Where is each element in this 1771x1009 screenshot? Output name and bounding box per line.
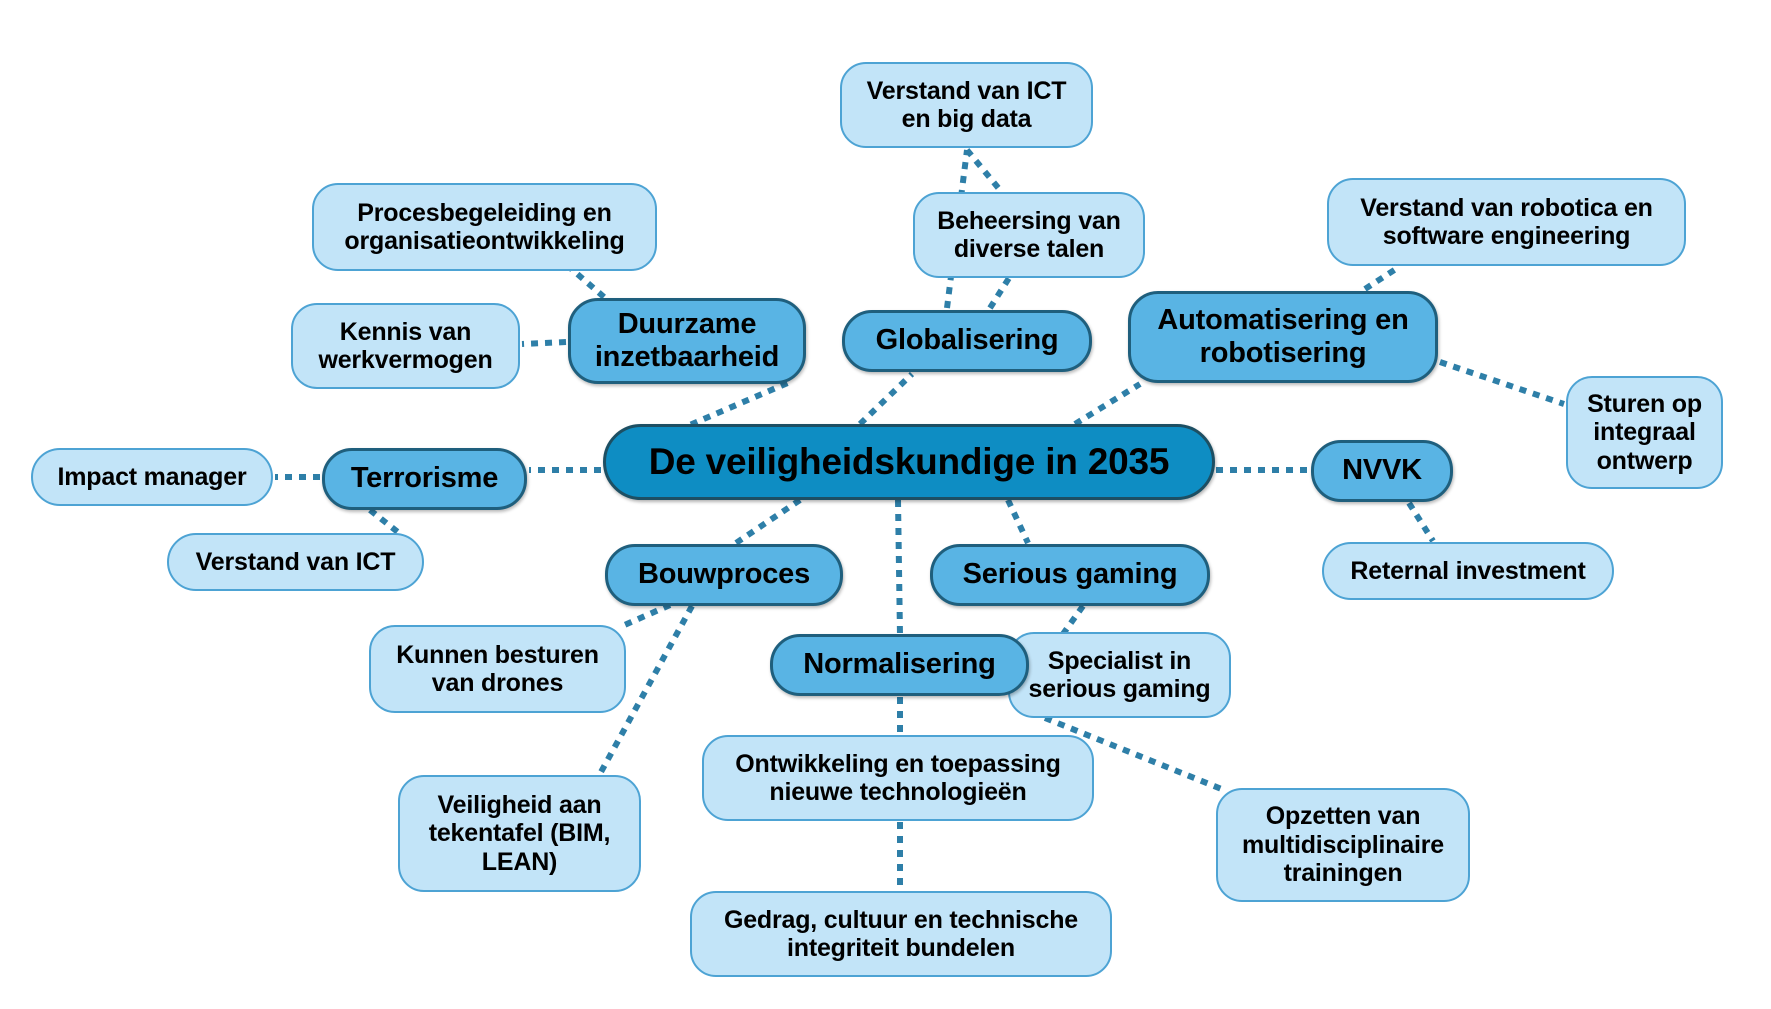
node-leaf-verstand-robotica[interactable]: Verstand van robotica en software engine… bbox=[1327, 178, 1686, 266]
edge-layer bbox=[0, 0, 1771, 1009]
node-leaf-reternal-investment[interactable]: Reternal investment bbox=[1322, 542, 1614, 600]
node-leaf-sturen-integraal-ontwerp[interactable]: Sturen op integraal ontwerp bbox=[1566, 376, 1723, 489]
edge-root-to-automatisering-robotisering bbox=[1075, 384, 1140, 424]
edge-root-to-normalisering bbox=[898, 500, 900, 636]
node-leaf-gedrag-cultuur[interactable]: Gedrag, cultuur en technische integritei… bbox=[690, 891, 1112, 977]
node-leaf-verstand-ict[interactable]: Verstand van ICT bbox=[167, 533, 424, 591]
edge-automatisering-robotisering-to-verstand-robotica bbox=[1365, 267, 1399, 289]
edge-bouwproces-to-kunnen-besturen-drones bbox=[620, 605, 670, 627]
node-leaf-ontwikkeling-toepassing[interactable]: Ontwikkeling en toepassing nieuwe techno… bbox=[702, 735, 1094, 821]
edge-terrorisme-to-verstand-ict bbox=[370, 510, 399, 533]
node-central-topic[interactable]: De veiligheidskundige in 2035 bbox=[603, 424, 1215, 500]
edge-root-to-serious-gaming bbox=[1008, 500, 1028, 543]
node-leaf-veiligheid-tekentafel[interactable]: Veiligheid aan tekentafel (BIM, LEAN) bbox=[398, 775, 641, 892]
node-branch-terrorisme[interactable]: Terrorisme bbox=[322, 448, 527, 510]
node-branch-duurzame-inzetbaarheid[interactable]: Duurzame inzetbaarheid bbox=[568, 298, 806, 384]
node-branch-nvvk[interactable]: NVVK bbox=[1311, 440, 1453, 502]
node-leaf-opzetten-multidisciplinaire-trainingen[interactable]: Opzetten van multidisciplinaire training… bbox=[1216, 788, 1470, 902]
edge-serious-gaming-to-specialist-serious-gaming bbox=[1063, 606, 1083, 634]
node-leaf-kunnen-besturen-drones[interactable]: Kunnen besturen van drones bbox=[369, 625, 626, 713]
edge-root-to-duurzame-inzetbaarheid bbox=[678, 382, 790, 430]
node-branch-bouwproces[interactable]: Bouwproces bbox=[605, 544, 843, 606]
node-branch-automatisering-robotisering[interactable]: Automatisering en robotisering bbox=[1128, 291, 1438, 383]
edge-verstand-ict-bigdata-to-beheersing-talen bbox=[967, 150, 1000, 190]
node-leaf-procesbegeleiding[interactable]: Procesbegeleiding en organisatieontwikke… bbox=[312, 183, 657, 271]
edge-globalisering-to-beheersing-talen bbox=[990, 278, 1009, 308]
node-branch-normalisering[interactable]: Normalisering bbox=[770, 634, 1029, 696]
edge-duurzame-inzetbaarheid-to-kennis-werkvermogen bbox=[522, 342, 566, 344]
node-leaf-beheersing-talen[interactable]: Beheersing van diverse talen bbox=[913, 192, 1145, 278]
edge-automatisering-robotisering-to-sturen-integraal-ontwerp bbox=[1440, 362, 1564, 404]
edge-root-to-globalisering bbox=[860, 374, 912, 424]
edge-root-to-bouwproces bbox=[736, 500, 800, 543]
mindmap-canvas: De veiligheidskundige in 2035Duurzame in… bbox=[0, 0, 1771, 1009]
node-leaf-kennis-werkvermogen[interactable]: Kennis van werkvermogen bbox=[291, 303, 520, 389]
edge-nvvk-to-reternal-investment bbox=[1409, 503, 1433, 541]
node-branch-serious-gaming[interactable]: Serious gaming bbox=[930, 544, 1210, 606]
node-leaf-impact-manager[interactable]: Impact manager bbox=[31, 448, 273, 506]
node-branch-globalisering[interactable]: Globalisering bbox=[842, 310, 1092, 372]
node-leaf-verstand-ict-bigdata[interactable]: Verstand van ICT en big data bbox=[840, 62, 1093, 148]
node-leaf-specialist-serious-gaming[interactable]: Specialist in serious gaming bbox=[1008, 632, 1231, 718]
